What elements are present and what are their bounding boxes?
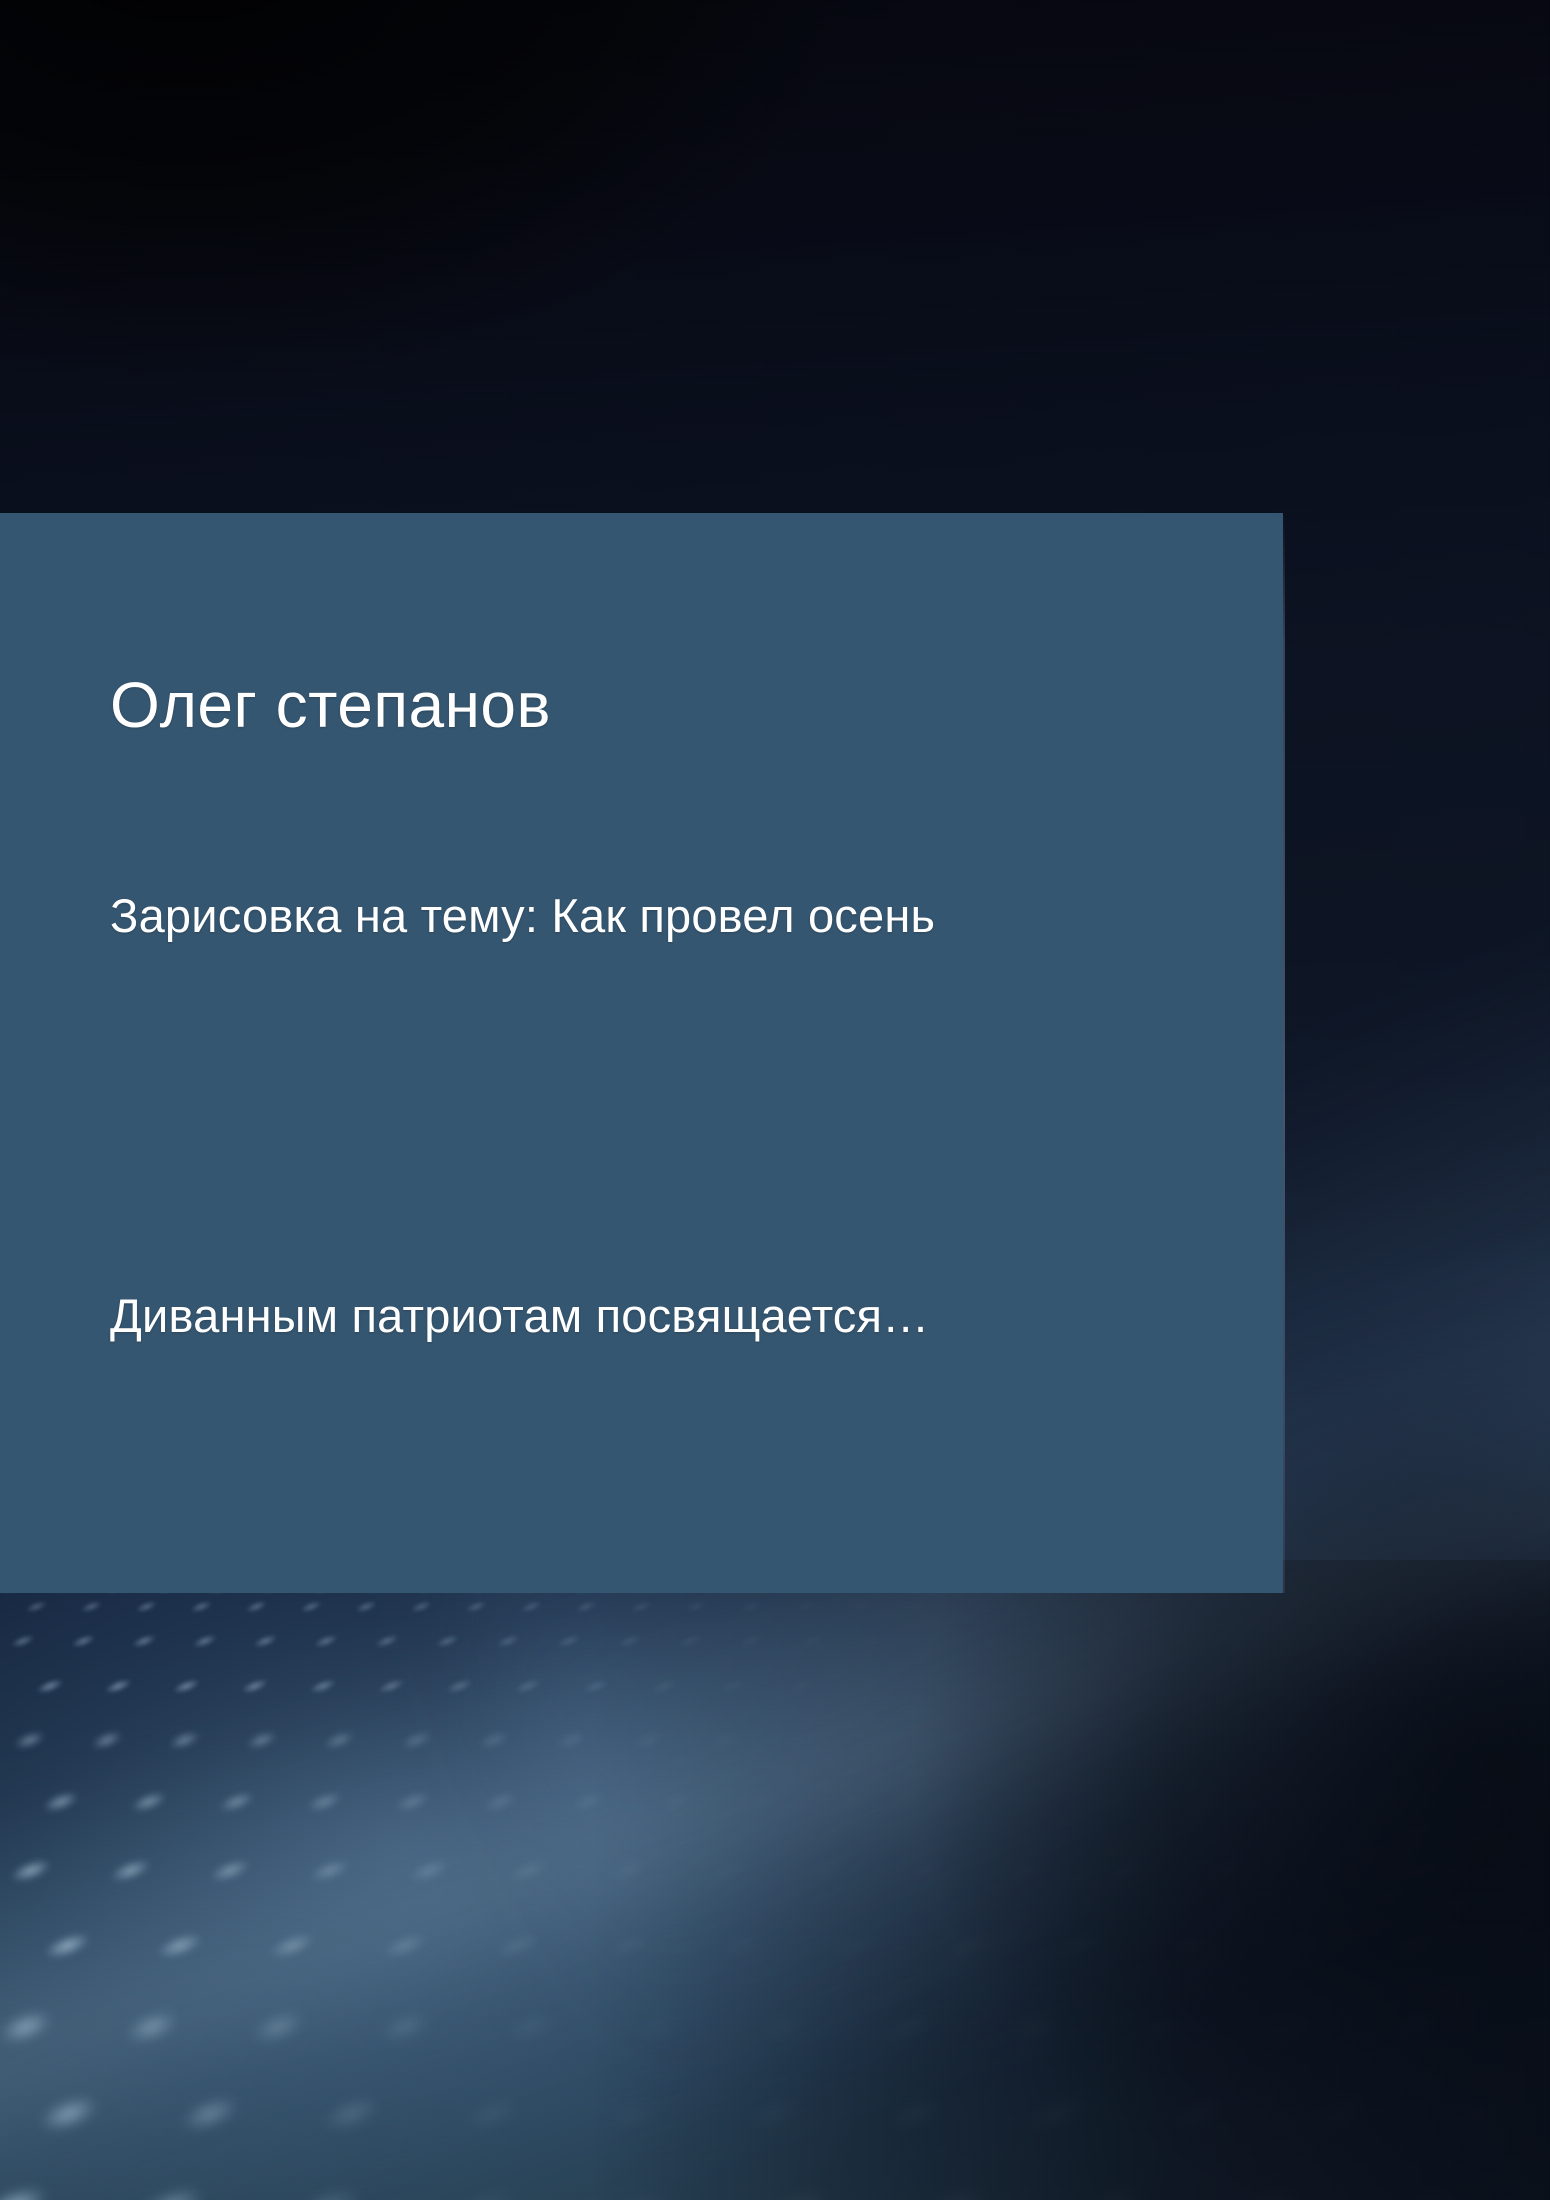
book-cover: Олег степанов Зарисовка на тему: Как про… <box>0 0 1550 2200</box>
panel-edge-highlight <box>1283 513 1285 1593</box>
book-title: Зарисовка на тему: Как провел осень <box>110 888 935 943</box>
dedication-tagline: Диванным патриотам посвящается… <box>110 1288 929 1343</box>
author-name: Олег степанов <box>110 668 551 742</box>
